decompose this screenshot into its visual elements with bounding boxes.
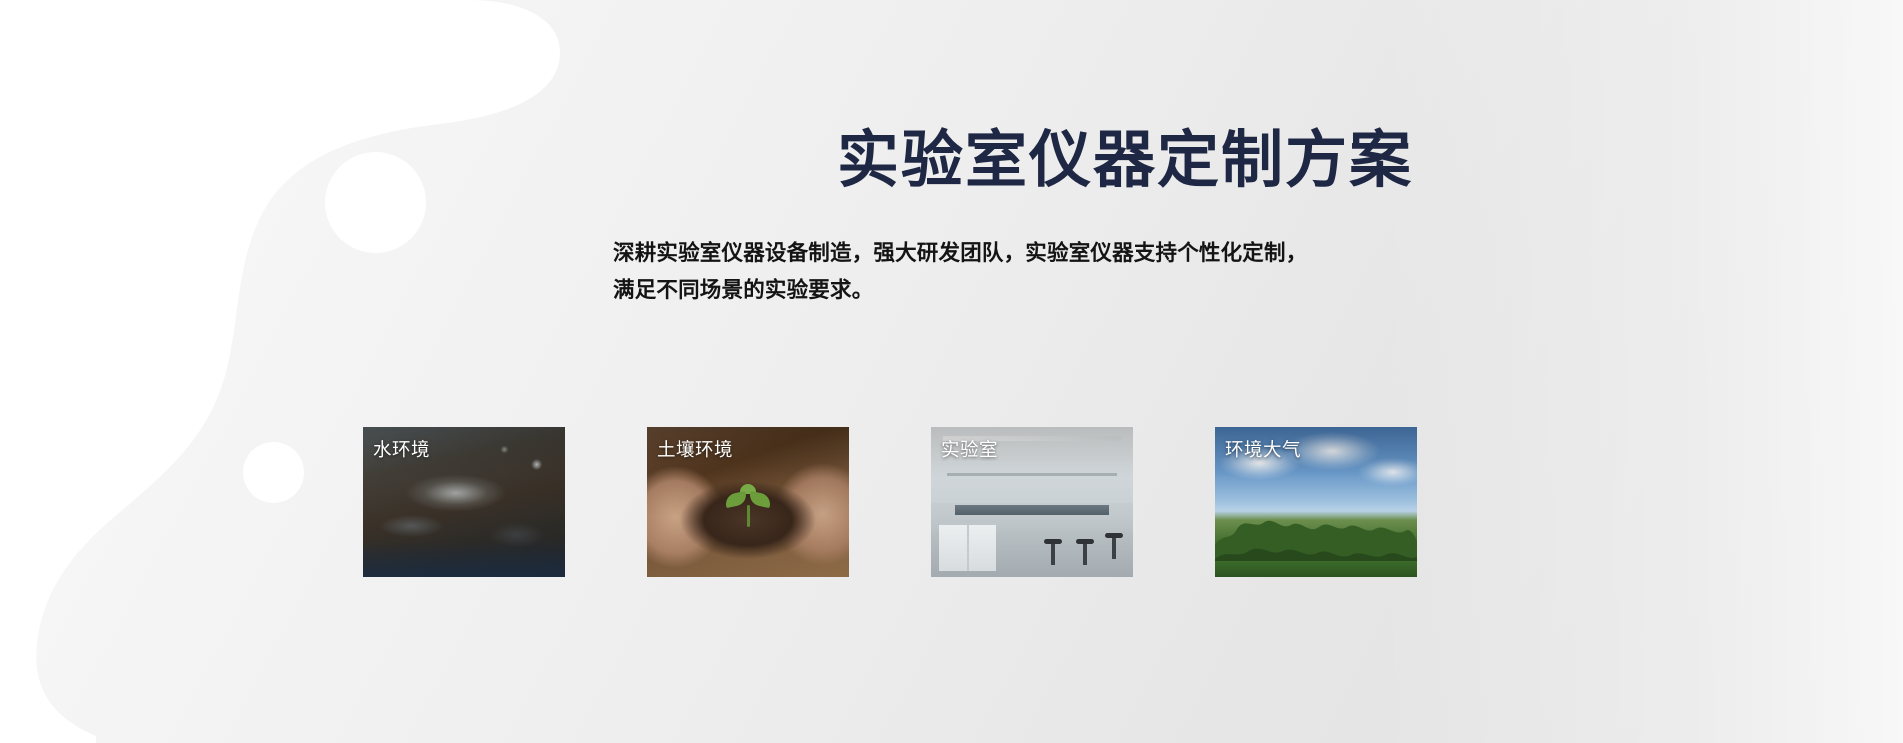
lab-shelf — [947, 473, 1117, 476]
category-card-list: 水环境 土壤环境 — [363, 427, 1410, 577]
lab-stool — [1044, 539, 1062, 565]
meadow-strip — [1215, 561, 1417, 577]
card-water[interactable]: 水环境 — [363, 427, 565, 577]
lab-wall — [931, 461, 1133, 503]
seedling-right-leaf-icon — [748, 491, 772, 508]
hero-subtitle-line-2: 满足不同场景的实验要求。 — [613, 278, 873, 302]
seedling-left-leaf-icon — [724, 491, 748, 508]
lab-stool — [1076, 539, 1094, 565]
hero-text-block: 实验室仪器定制方案 深耕实验室仪器设备制造，强大研发团队，实验室仪器支持个性化定… — [613, 128, 1413, 309]
page-title: 实验室仪器定制方案 — [613, 128, 1413, 195]
card-label-soil: 土壤环境 — [657, 436, 733, 462]
card-lab[interactable]: 实验室 — [931, 427, 1133, 577]
card-label-lab: 实验室 — [941, 436, 998, 462]
lab-bench — [955, 505, 1109, 515]
hero-subtitle-line-1: 深耕实验室仪器设备制造，强大研发团队，实验室仪器支持个性化定制， — [613, 241, 1307, 265]
lab-cabinet — [939, 523, 996, 571]
card-air[interactable]: 环境大气 — [1215, 427, 1417, 577]
lab-stool — [1105, 533, 1123, 559]
card-soil[interactable]: 土壤环境 — [647, 427, 849, 577]
seedling-stem-icon — [747, 505, 750, 527]
card-label-air: 环境大气 — [1225, 436, 1301, 462]
card-label-water: 水环境 — [373, 436, 430, 462]
hero-subtitle: 深耕实验室仪器设备制造，强大研发团队，实验室仪器支持个性化定制， 满足不同场景的… — [613, 235, 1408, 309]
background-right-fade — [1383, 0, 1903, 743]
hero-banner: 实验室仪器定制方案 深耕实验室仪器设备制造，强大研发团队，实验室仪器支持个性化定… — [0, 0, 1903, 743]
